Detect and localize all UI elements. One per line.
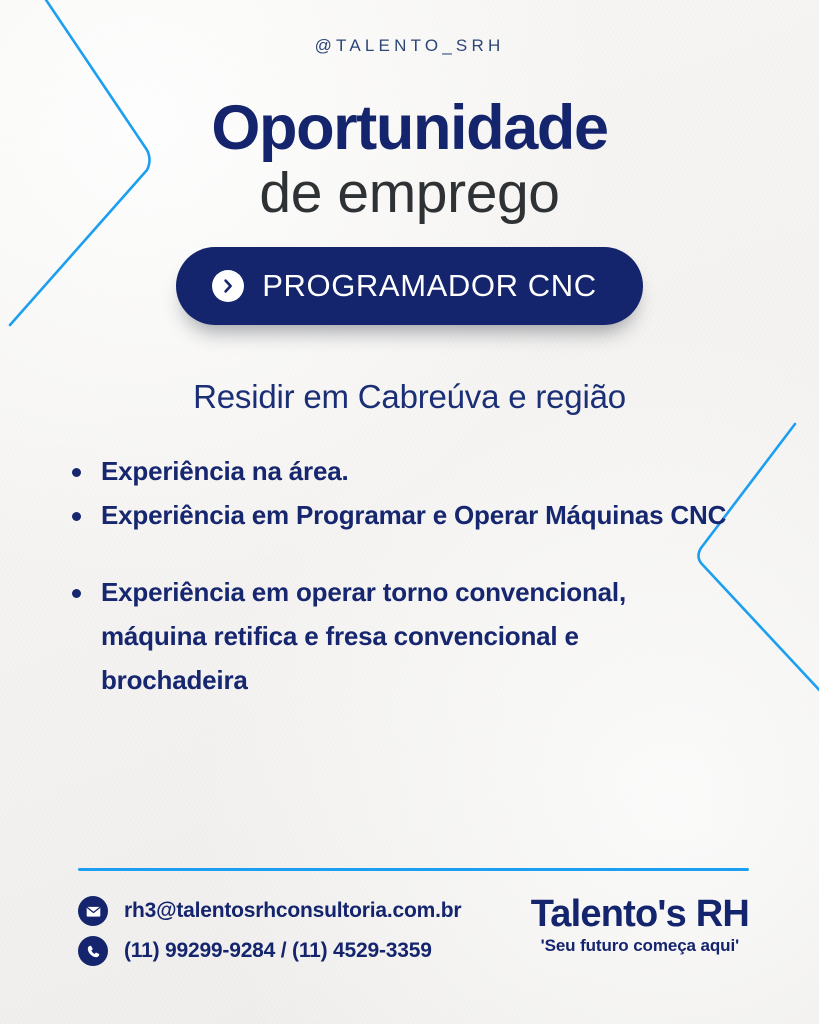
contact-phones: (11) 99299-9284 / (11) 4529-3359 [124, 939, 432, 963]
requirement-text: Experiência em Programar e Operar Máquin… [101, 494, 732, 538]
role-badge-container: PROGRAMADOR CNC [0, 247, 819, 325]
list-item: Experiência na área. [72, 450, 732, 494]
contact-email: rh3@talentosrhconsultoria.com.br [124, 899, 461, 923]
role-badge-label: PROGRAMADOR CNC [262, 268, 597, 304]
list-item: Experiência em Programar e Operar Máquin… [72, 494, 732, 538]
footer: rh3@talentosrhconsultoria.com.br (11) 99… [78, 893, 749, 966]
brand-logo: Talento's RH 'Seu futuro começa aqui' [531, 893, 749, 956]
requirement-text: Experiência na área. [101, 450, 732, 494]
requirement-text: Experiência em operar torno convencional… [101, 571, 732, 702]
brand-name: Talento's RH [531, 895, 749, 935]
phone-icon [78, 936, 108, 966]
chevron-right-circle-icon [212, 270, 244, 302]
footer-divider [78, 868, 749, 871]
envelope-icon [78, 896, 108, 926]
role-badge[interactable]: PROGRAMADOR CNC [176, 247, 643, 325]
contact-phone-row[interactable]: (11) 99299-9284 / (11) 4529-3359 [78, 936, 461, 966]
contact-details: rh3@talentosrhconsultoria.com.br (11) 99… [78, 893, 461, 966]
bullet-icon [72, 512, 81, 521]
account-handle: @TALENTO_SRH [0, 36, 819, 56]
job-opportunity-poster: @TALENTO_SRH Oportunidade de emprego PRO… [0, 0, 819, 1024]
contact-email-row[interactable]: rh3@talentosrhconsultoria.com.br [78, 896, 461, 926]
requirements-list: Experiência na área. Experiência em Prog… [72, 450, 732, 702]
page-title: Oportunidade de emprego [0, 96, 819, 224]
list-item: Experiência em operar torno convencional… [72, 571, 732, 702]
list-spacer [72, 537, 732, 571]
brand-tagline: 'Seu futuro começa aqui' [531, 936, 749, 956]
bullet-icon [72, 589, 81, 598]
location-requirement: Residir em Cabreúva e região [0, 378, 819, 416]
headline-primary: Oportunidade [0, 96, 819, 160]
bullet-icon [72, 468, 81, 477]
headline-secondary: de emprego [0, 164, 819, 223]
